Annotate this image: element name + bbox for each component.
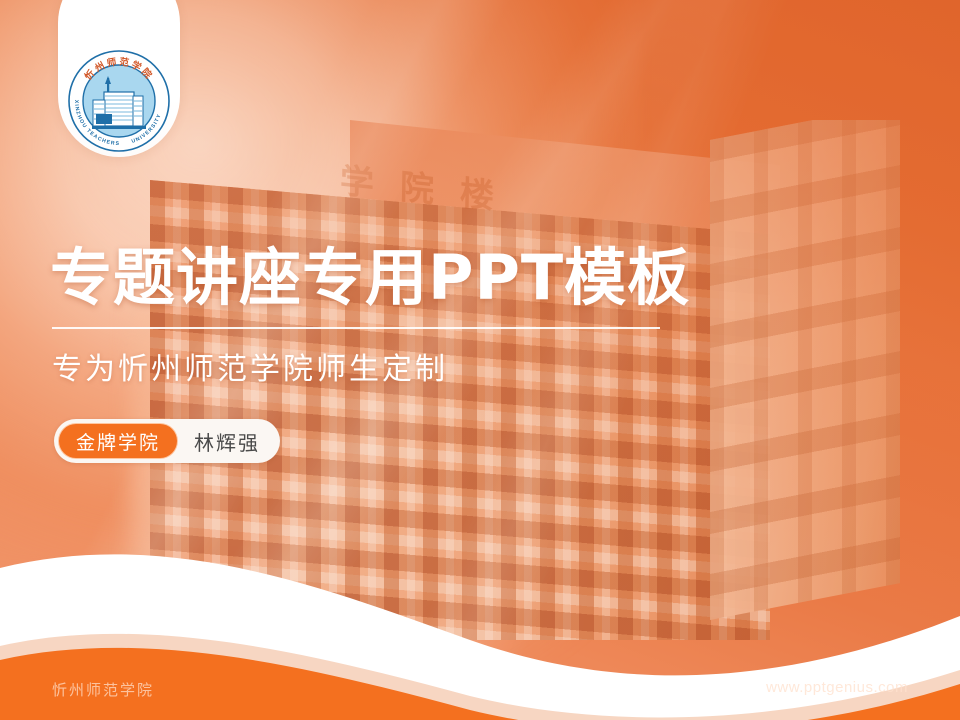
page-subtitle: 专为忻州师范学院师生定制 bbox=[52, 348, 448, 392]
title-divider bbox=[52, 327, 660, 329]
footer-website-url[interactable]: www.pptgenius.com bbox=[766, 679, 908, 696]
presentation-title-slide: 学院楼 bbox=[0, 0, 960, 720]
presenter-badge: 金牌学院 林辉强 bbox=[54, 419, 280, 463]
presenter-name: 林辉强 bbox=[194, 427, 260, 456]
footer-university-name: 忻州师范学院 bbox=[52, 679, 154, 700]
badge-tag-label: 金牌学院 bbox=[58, 423, 178, 459]
page-title: 专题讲座专用PPT模板 bbox=[50, 240, 690, 316]
university-seal-logo: 忻州师范学院 XINZHOU TEACHERS UNIVERSITY bbox=[66, 48, 172, 154]
